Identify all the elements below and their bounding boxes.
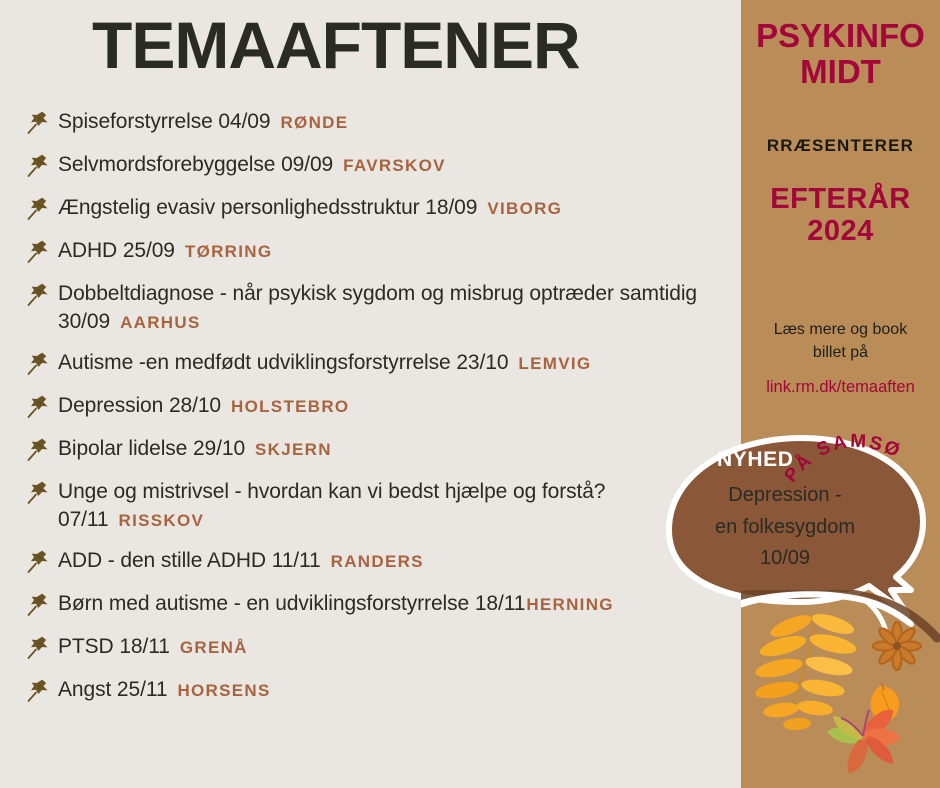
event-text-block: Selvmordsforebyggelse 09/09FAVRSKOV xyxy=(58,151,446,179)
season-line-2: 2024 xyxy=(741,215,940,247)
event-title: ADHD 25/09 xyxy=(58,239,175,262)
event-title: Bipolar lidelse 29/10 xyxy=(58,437,245,460)
event-text-block: Ængstelig evasiv personlighedsstruktur 1… xyxy=(58,194,562,222)
season-title: EFTERÅR 2024 xyxy=(741,183,940,248)
event-row[interactable]: Angst 25/11HORSENS xyxy=(26,676,741,706)
booking-instructions: Læs mere og book billet på xyxy=(749,318,932,364)
presents-label: RRÆSENTERER xyxy=(741,136,940,156)
bubble-line-1: Depression - xyxy=(677,480,893,512)
pushpin-icon xyxy=(26,591,52,617)
event-city: VIBORG xyxy=(487,199,562,218)
nyhed-badge: NYHED xyxy=(717,448,794,472)
event-text-block: PTSD 18/11GRENÅ xyxy=(58,633,248,661)
pushpin-icon xyxy=(26,634,52,660)
pa-samso-text: PÅ SAMSØ xyxy=(785,431,905,487)
event-row[interactable]: Depression 28/10HOLSTEBRO xyxy=(26,392,741,422)
event-city: FAVRSKOV xyxy=(343,156,446,175)
pushpin-icon xyxy=(26,109,52,135)
poster-canvas: PSYKINFO MIDT RRÆSENTERER EFTERÅR 2024 L… xyxy=(0,0,940,788)
pushpin-icon xyxy=(26,152,52,178)
event-title: Angst 25/11 xyxy=(58,678,167,701)
page-title: TEMAAFTENER xyxy=(92,12,580,78)
season-line-1: EFTERÅR xyxy=(741,183,940,215)
event-row[interactable]: Dobbeltdiagnose - når psykisk sygdom og … xyxy=(26,280,741,336)
event-row[interactable]: Bipolar lidelse 29/10SKJERN xyxy=(26,435,741,465)
event-row[interactable]: Selvmordsforebyggelse 09/09FAVRSKOV xyxy=(26,151,741,181)
event-title: ADD - den stille ADHD 11/11 xyxy=(58,549,321,572)
pushpin-icon xyxy=(26,677,52,703)
booking-line-1: Læs mere og book xyxy=(749,318,932,341)
event-text-block: Depression 28/10HOLSTEBRO xyxy=(58,392,349,420)
event-text-block: ADHD 25/09TØRRING xyxy=(58,237,272,265)
event-title: Ængstelig evasiv personlighedsstruktur 1… xyxy=(58,196,477,219)
event-text-block: Dobbeltdiagnose - når psykisk sygdom og … xyxy=(58,280,741,336)
event-text-block: Bipolar lidelse 29/10SKJERN xyxy=(58,435,332,463)
pushpin-icon xyxy=(26,195,52,221)
bubble-line-2: en folkesygdom xyxy=(677,512,893,544)
event-text-block: Spiseforstyrrelse 04/09RØNDE xyxy=(58,108,348,136)
event-city: RISSKOV xyxy=(119,511,205,530)
pushpin-icon xyxy=(26,281,52,307)
pushpin-icon xyxy=(26,548,52,574)
event-row[interactable]: ADHD 25/09TØRRING xyxy=(26,237,741,267)
event-city: RØNDE xyxy=(280,113,348,132)
event-city: SKJERN xyxy=(255,440,332,459)
bubble-body-text: Depression - en folkesygdom 10/09 xyxy=(677,480,893,575)
event-title: PTSD 18/11 xyxy=(58,635,170,658)
event-text-block: Børn med autisme - en udviklingsforstyrr… xyxy=(58,590,614,618)
star-anise-icon xyxy=(873,622,921,670)
event-title: Autisme -en medfødt udviklingsforstyrrel… xyxy=(58,351,508,374)
autumn-rowan-leaf-icon xyxy=(754,610,858,731)
event-row[interactable]: Autisme -en medfødt udviklingsforstyrrel… xyxy=(26,349,741,379)
booking-link[interactable]: link.rm.dk/temaaften xyxy=(741,378,940,397)
event-text-block: Unge og mistrivsel - hvordan kan vi beds… xyxy=(58,478,741,534)
event-row[interactable]: Børn med autisme - en udviklingsforstyrr… xyxy=(26,590,741,620)
bubble-line-3: 10/09 xyxy=(677,543,893,575)
event-text-block: Autisme -en medfødt udviklingsforstyrrel… xyxy=(58,349,591,377)
event-row[interactable]: ADD - den stille ADHD 11/11RANDERS xyxy=(26,547,741,577)
event-row[interactable]: Ængstelig evasiv personlighedsstruktur 1… xyxy=(26,194,741,224)
pushpin-icon xyxy=(26,436,52,462)
event-title: Selvmordsforebyggelse 09/09 xyxy=(58,153,333,176)
event-city: GRENÅ xyxy=(180,638,248,657)
brand-title: PSYKINFO MIDT xyxy=(741,18,940,89)
event-title: Depression 28/10 xyxy=(58,394,221,417)
brand-line-2: MIDT xyxy=(741,54,940,90)
event-city: AARHUS xyxy=(120,313,201,332)
pushpin-icon xyxy=(26,393,52,419)
brand-line-1: PSYKINFO xyxy=(741,18,940,54)
event-city: LEMVIG xyxy=(518,354,591,373)
event-text-block: Angst 25/11HORSENS xyxy=(58,676,271,704)
event-city: HOLSTEBRO xyxy=(231,397,349,416)
pushpin-icon xyxy=(26,238,52,264)
event-title: Spiseforstyrrelse 04/09 xyxy=(58,110,270,133)
event-text-block: ADD - den stille ADHD 11/11RANDERS xyxy=(58,547,424,575)
event-city: HORSENS xyxy=(177,681,270,700)
event-city: TØRRING xyxy=(185,242,272,261)
event-row[interactable]: Spiseforstyrrelse 04/09RØNDE xyxy=(26,108,741,138)
event-row[interactable]: PTSD 18/11GRENÅ xyxy=(26,633,741,663)
pushpin-icon xyxy=(26,479,52,505)
autumn-decorations xyxy=(741,590,940,788)
pushpin-icon xyxy=(26,350,52,376)
event-list: Spiseforstyrrelse 04/09RØNDESelvmordsfor… xyxy=(26,108,741,719)
event-city: RANDERS xyxy=(331,552,424,571)
event-row[interactable]: Unge og mistrivsel - hvordan kan vi beds… xyxy=(26,478,741,534)
red-green-maple-leaf-icon xyxy=(827,710,901,774)
svg-text:PÅ SAMSØ: PÅ SAMSØ xyxy=(785,431,905,487)
event-title: Børn med autisme - en udviklingsforstyrr… xyxy=(58,592,525,615)
event-city: HERNING xyxy=(526,595,614,614)
booking-line-2: billet på xyxy=(749,341,932,364)
